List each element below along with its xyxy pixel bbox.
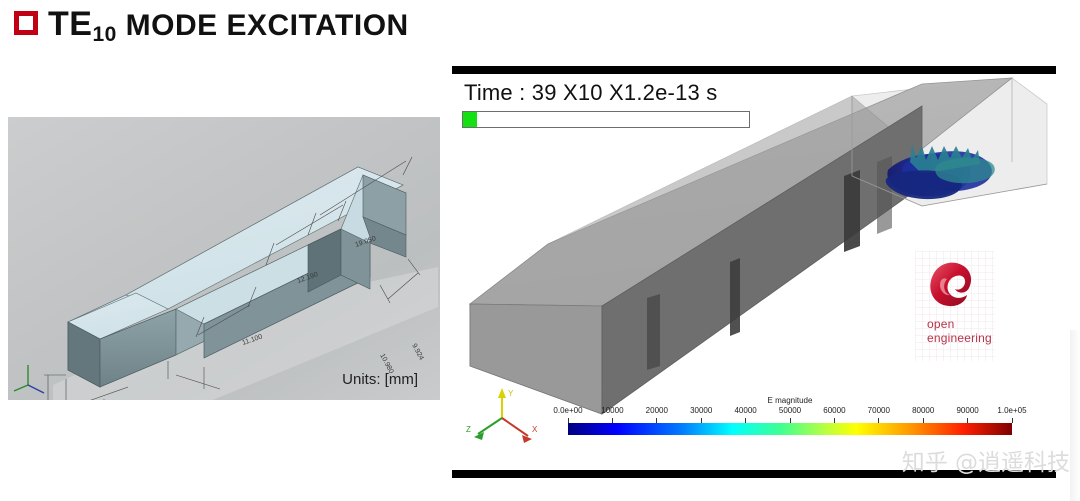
- cad-drawing-panel: 19.05012.19011.10019.05012.1909.5259.525…: [8, 117, 440, 400]
- page-title: TE10 MODE EXCITATION: [48, 2, 409, 51]
- open-engineering-logo: open engineering: [915, 251, 995, 361]
- colorbar-tick-label: 70000: [868, 406, 890, 415]
- slide-title-bar: TE10 MODE EXCITATION: [0, 0, 1080, 58]
- colorbar: E magnitude 0.0e+00100002000030000400005…: [568, 396, 1012, 446]
- colorbar-tick-label: 40000: [734, 406, 756, 415]
- watermark: 知乎 @逍遥科技: [902, 443, 1070, 477]
- colorbar-tick-label: 0.0e+00: [553, 406, 582, 415]
- svg-text:Z: Z: [466, 425, 471, 434]
- logo-line-1: open: [927, 317, 992, 331]
- colorbar-tick-label: 50000: [779, 406, 801, 415]
- svg-text:Y: Y: [508, 389, 514, 398]
- title-rest: MODE EXCITATION: [117, 9, 409, 42]
- colorbar-tick-label: 30000: [690, 406, 712, 415]
- colorbar-tick-label: 90000: [956, 406, 978, 415]
- logo-line-2: engineering: [927, 331, 992, 345]
- colorbar-gradient: [568, 423, 1012, 435]
- logo-wordmark: open engineering: [927, 317, 992, 345]
- cad-geometry: 19.05012.19011.10019.05012.1909.5259.525…: [8, 117, 440, 400]
- colorbar-tick-label: 20000: [646, 406, 668, 415]
- simulation-viewport: Time : 39 X10 X1.2e-13 s: [452, 66, 1056, 478]
- colorbar-tick-label: 1.0e+05: [997, 406, 1026, 415]
- colorbar-tick-label: 10000: [601, 406, 623, 415]
- at-symbol-e-icon: [921, 253, 983, 315]
- colorbar-tick-label: 60000: [823, 406, 845, 415]
- cad-units-label: Units: [mm]: [342, 371, 418, 388]
- svg-text:X: X: [532, 425, 538, 434]
- title-subscript: 10: [92, 23, 116, 46]
- right-edge-strip: [1070, 330, 1080, 501]
- sim-axis-triad: Y Z X: [466, 388, 538, 443]
- colorbar-tick-label: 80000: [912, 406, 934, 415]
- title-main: TE: [48, 5, 92, 43]
- colorbar-tick-labels: 0.0e+00100002000030000400005000060000700…: [568, 406, 1012, 418]
- bullet-square-icon: [14, 11, 38, 35]
- colorbar-title: E magnitude: [568, 396, 1012, 405]
- dimension-label: 9.924: [410, 343, 424, 362]
- cad-axis-triad: [14, 365, 44, 393]
